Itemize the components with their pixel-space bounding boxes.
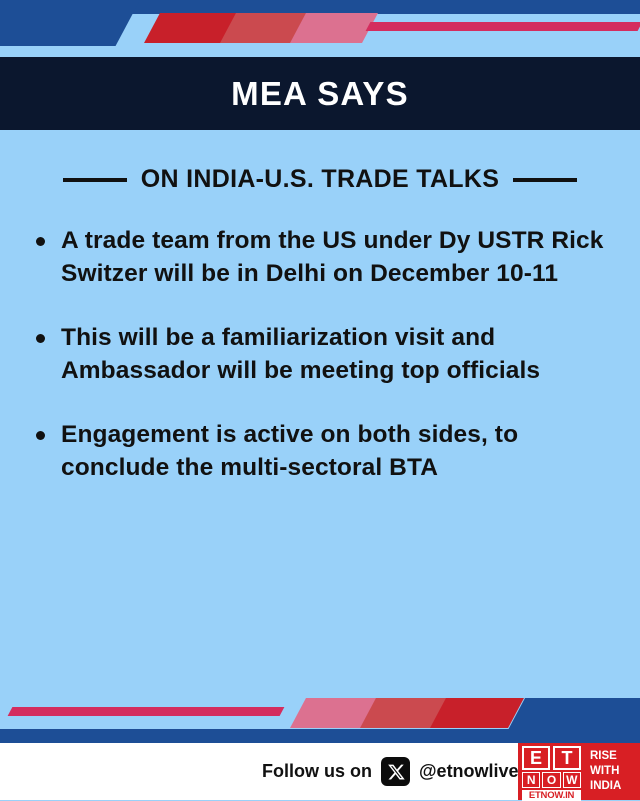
subtitle-row: ON INDIA-U.S. TRADE TALKS (0, 165, 640, 194)
list-item: A trade team from the US under Dy USTR R… (36, 225, 624, 290)
follow-us-block: Follow us on @etnowlive (262, 757, 519, 786)
bullet-dot-icon (36, 237, 45, 246)
logo-letter-o: O (542, 772, 560, 788)
subtitle-rule-left (63, 178, 127, 182)
top-pink-segment (290, 13, 378, 43)
subtitle-rule-right (513, 178, 577, 182)
content-area: ON INDIA-U.S. TRADE TALKS A trade team f… (0, 130, 640, 685)
tagline-line-2: WITH (590, 764, 640, 779)
top-pink-line (366, 22, 640, 31)
social-handle[interactable]: @etnowlive (419, 761, 519, 782)
bottom-blue-parallelogram (507, 698, 640, 732)
list-item: Engagement is active on both sides, to c… (36, 419, 624, 484)
bottom-blue-band (0, 729, 640, 743)
bullet-text: A trade team from the US under Dy USTR R… (61, 225, 624, 290)
footer: Follow us on @etnowlive E T N O W ETNOW.… (0, 743, 640, 800)
bottom-red-segment (430, 698, 524, 728)
et-letters-row: E T (522, 746, 581, 770)
logo-letter-e: E (522, 746, 550, 770)
list-item: This will be a familiarization visit and… (36, 322, 624, 387)
bullet-text: Engagement is active on both sides, to c… (61, 419, 624, 484)
subtitle-text: ON INDIA-U.S. TRADE TALKS (141, 165, 499, 194)
logo-letter-w: W (563, 772, 581, 788)
x-twitter-icon[interactable] (381, 757, 410, 786)
now-letters-row: N O W (522, 772, 581, 788)
bullet-text: This will be a familiarization visit and… (61, 322, 624, 387)
etnow-logo-mark: E T N O W ETNOW.IN (518, 743, 584, 800)
logo-domain: ETNOW.IN (522, 790, 581, 801)
bullet-dot-icon (36, 334, 45, 343)
top-blue-parallelogram (0, 0, 140, 46)
header-title-band: MEA SAYS (0, 57, 640, 130)
tagline-line-3: INDIA (590, 779, 640, 794)
page-title: MEA SAYS (231, 75, 409, 113)
bottom-decoration-bar (0, 685, 640, 735)
etnow-logo[interactable]: E T N O W ETNOW.IN RISE WITH INDIA (518, 743, 640, 800)
logo-letter-n: N (522, 772, 540, 788)
top-decoration-bar (0, 0, 640, 54)
logo-letter-t: T (553, 746, 581, 770)
follow-label: Follow us on (262, 761, 372, 782)
logo-tagline: RISE WITH INDIA (584, 743, 640, 800)
tagline-line-1: RISE (590, 749, 640, 764)
bottom-pink-line (8, 707, 285, 716)
bullet-dot-icon (36, 431, 45, 440)
bullet-list: A trade team from the US under Dy USTR R… (36, 225, 624, 516)
